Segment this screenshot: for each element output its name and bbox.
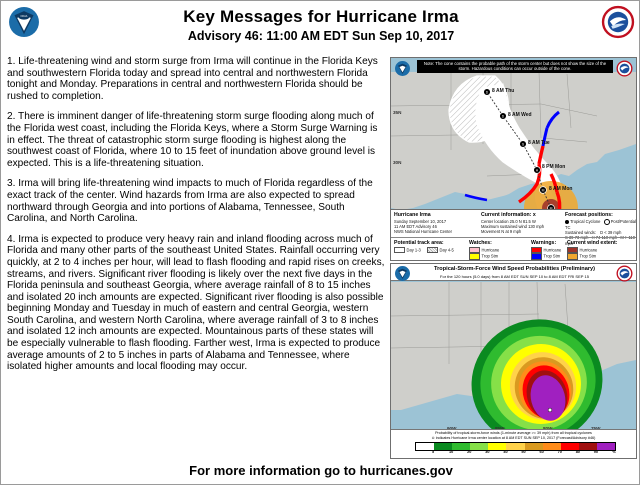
legend-current-info: Current information: x Center location 2… bbox=[481, 212, 561, 235]
colorbar-tick-60: 60 bbox=[540, 450, 544, 454]
noaa-logo-small-2 bbox=[394, 265, 411, 282]
header: NOAA Key Messages for Hurricane Irma Adv… bbox=[1, 1, 640, 53]
extent-tropstm-chip: Trop Stm bbox=[567, 253, 596, 259]
legend-watches-heading: Watches: bbox=[469, 240, 527, 246]
lat-label-30n: 30N bbox=[393, 160, 401, 165]
track-label-8am-mon: 8 AM Mon bbox=[549, 186, 572, 192]
legend-wind-extent-heading: Current wind extent: bbox=[567, 240, 637, 246]
wind-probability-map[interactable]: Tropical-Storm-Force Wind Speed Probabil… bbox=[390, 263, 637, 459]
legend-forecast-heading: Forecast positions: bbox=[565, 212, 637, 218]
probability-colorbar-ticks: 5102030405060708090% bbox=[415, 450, 614, 457]
colorbar-tick-80: 80 bbox=[576, 450, 580, 454]
legend-movement: Movement N at 9 mph bbox=[481, 229, 561, 234]
noaa-logo-small bbox=[394, 60, 411, 77]
prob-map-title: Tropical-Storm-Force Wind Speed Probabil… bbox=[413, 266, 616, 272]
advisory-subtitle: Advisory 46: 11:00 AM EDT Sun Sep 10, 20… bbox=[61, 29, 581, 43]
page-title: Key Messages for Hurricane Irma bbox=[61, 7, 581, 27]
key-message-3: 3. Irma will bring life-threatening wind… bbox=[7, 178, 385, 224]
track-label-8pm-mon: 8 PM Mon bbox=[542, 164, 565, 170]
cone-note: Note: The cone contains the probable pat… bbox=[417, 60, 613, 73]
key-message-1: 1. Life-threatening wind and storm surge… bbox=[7, 56, 385, 102]
svg-text:M: M bbox=[542, 188, 545, 192]
legend-track-area-items: Day 1-3 Day 4-5 bbox=[394, 247, 466, 253]
legend-wind-extent-items: Hurricane Trop Stm bbox=[567, 247, 637, 260]
prob-map-subtitle: For the 120 hours (5.0 days) from 8 AM E… bbox=[413, 274, 616, 279]
lat-label-35n: 35N bbox=[393, 110, 401, 115]
warning-tropstm-swatch bbox=[531, 253, 542, 259]
prob-map-header: Tropical-Storm-Force Wind Speed Probabil… bbox=[391, 264, 636, 281]
day-4-5-chip: Day 4-5 bbox=[427, 247, 454, 253]
legend-current-heading: Current information: x bbox=[481, 212, 561, 218]
storm-center-marker bbox=[548, 408, 552, 412]
legend-watches: Watches: Hurricane Trop Stm bbox=[469, 240, 527, 260]
legend-watches-items: Hurricane Trop Stm bbox=[469, 247, 527, 260]
legend-storm-agency: NWS National Hurricane Center bbox=[394, 229, 478, 234]
key-messages: 1. Life-threatening wind and storm surge… bbox=[7, 56, 385, 456]
key-message-2: 2. There is imminent danger of life-thre… bbox=[7, 111, 385, 169]
track-label-8am-thu: 8 AM Thu bbox=[492, 88, 514, 94]
day-1-3-chip: Day 1-3 bbox=[394, 247, 421, 253]
legend-hazards-row: Potential track area: Day 1-3 Day 4-5 Wa… bbox=[391, 237, 636, 261]
legend-track-area-heading: Potential track area: bbox=[394, 240, 466, 246]
day-1-3-swatch bbox=[394, 247, 405, 253]
post-potential-tc-icon bbox=[604, 219, 610, 225]
key-message-4: 4. Irma is expected to produce very heav… bbox=[7, 234, 385, 373]
probability-colorbar-block: Probability of tropical-storm-force wind… bbox=[391, 429, 636, 458]
noaa-logo: NOAA bbox=[7, 5, 41, 39]
track-label-8am-tue: 8 AM Tue bbox=[528, 140, 550, 146]
track-label-8am-wed: 8 AM Wed bbox=[508, 112, 532, 118]
colorbar-tick-90: 90 bbox=[594, 450, 598, 454]
colorbar-tick-20: 20 bbox=[467, 450, 471, 454]
advisory-graphic: NOAA Key Messages for Hurricane Irma Adv… bbox=[0, 0, 640, 485]
nws-logo-small-2 bbox=[616, 265, 633, 282]
legend-wind-extent: Current wind extent: Hurricane Trop Stm bbox=[567, 240, 637, 260]
footer-link[interactable]: For more information go to hurricanes.go… bbox=[1, 463, 640, 478]
tropical-cyclone-icon bbox=[565, 220, 569, 224]
svg-text:NOAA: NOAA bbox=[21, 15, 28, 18]
colorbar-tick-5: 5 bbox=[432, 450, 434, 454]
colorbar-tick-50: 50 bbox=[521, 450, 525, 454]
legend-track-area: Potential track area: Day 1-3 Day 4-5 bbox=[394, 240, 466, 253]
current-marker-x: x bbox=[533, 212, 536, 218]
colorbar-tick-10: 10 bbox=[449, 450, 453, 454]
nws-logo bbox=[601, 5, 635, 39]
legend-storm-info: Hurricane Irma Sunday September 10, 2017… bbox=[394, 212, 478, 235]
colorbar-tick-30: 30 bbox=[485, 450, 489, 454]
colorbar-tick-%: % bbox=[612, 450, 615, 454]
colorbar-tick-70: 70 bbox=[558, 450, 562, 454]
legend-storm-name: Hurricane Irma bbox=[394, 212, 478, 218]
prob-map-canvas: Tropical-Storm-Force Wind Speed Probabil… bbox=[391, 264, 636, 458]
warning-tropstm-chip: Trop Stm bbox=[531, 253, 560, 259]
track-map-legend: Hurricane Irma Sunday September 10, 2017… bbox=[390, 209, 637, 261]
day-4-5-swatch bbox=[427, 247, 438, 253]
colorbar-tick-40: 40 bbox=[503, 450, 507, 454]
prob-caption-2: ⊙ indicates Hurricane Irma center locati… bbox=[391, 436, 636, 440]
prob-caption-1: Probability of tropical-storm-force wind… bbox=[391, 431, 636, 435]
extent-tropstm-swatch bbox=[567, 253, 578, 259]
watch-tropstm-chip: Trop Stm bbox=[469, 253, 498, 259]
legend-forecast-symbols: Tropical Cyclone Post/Potential TC bbox=[565, 219, 637, 230]
nws-logo-small bbox=[616, 60, 633, 77]
watch-tropstm-swatch bbox=[469, 253, 480, 259]
